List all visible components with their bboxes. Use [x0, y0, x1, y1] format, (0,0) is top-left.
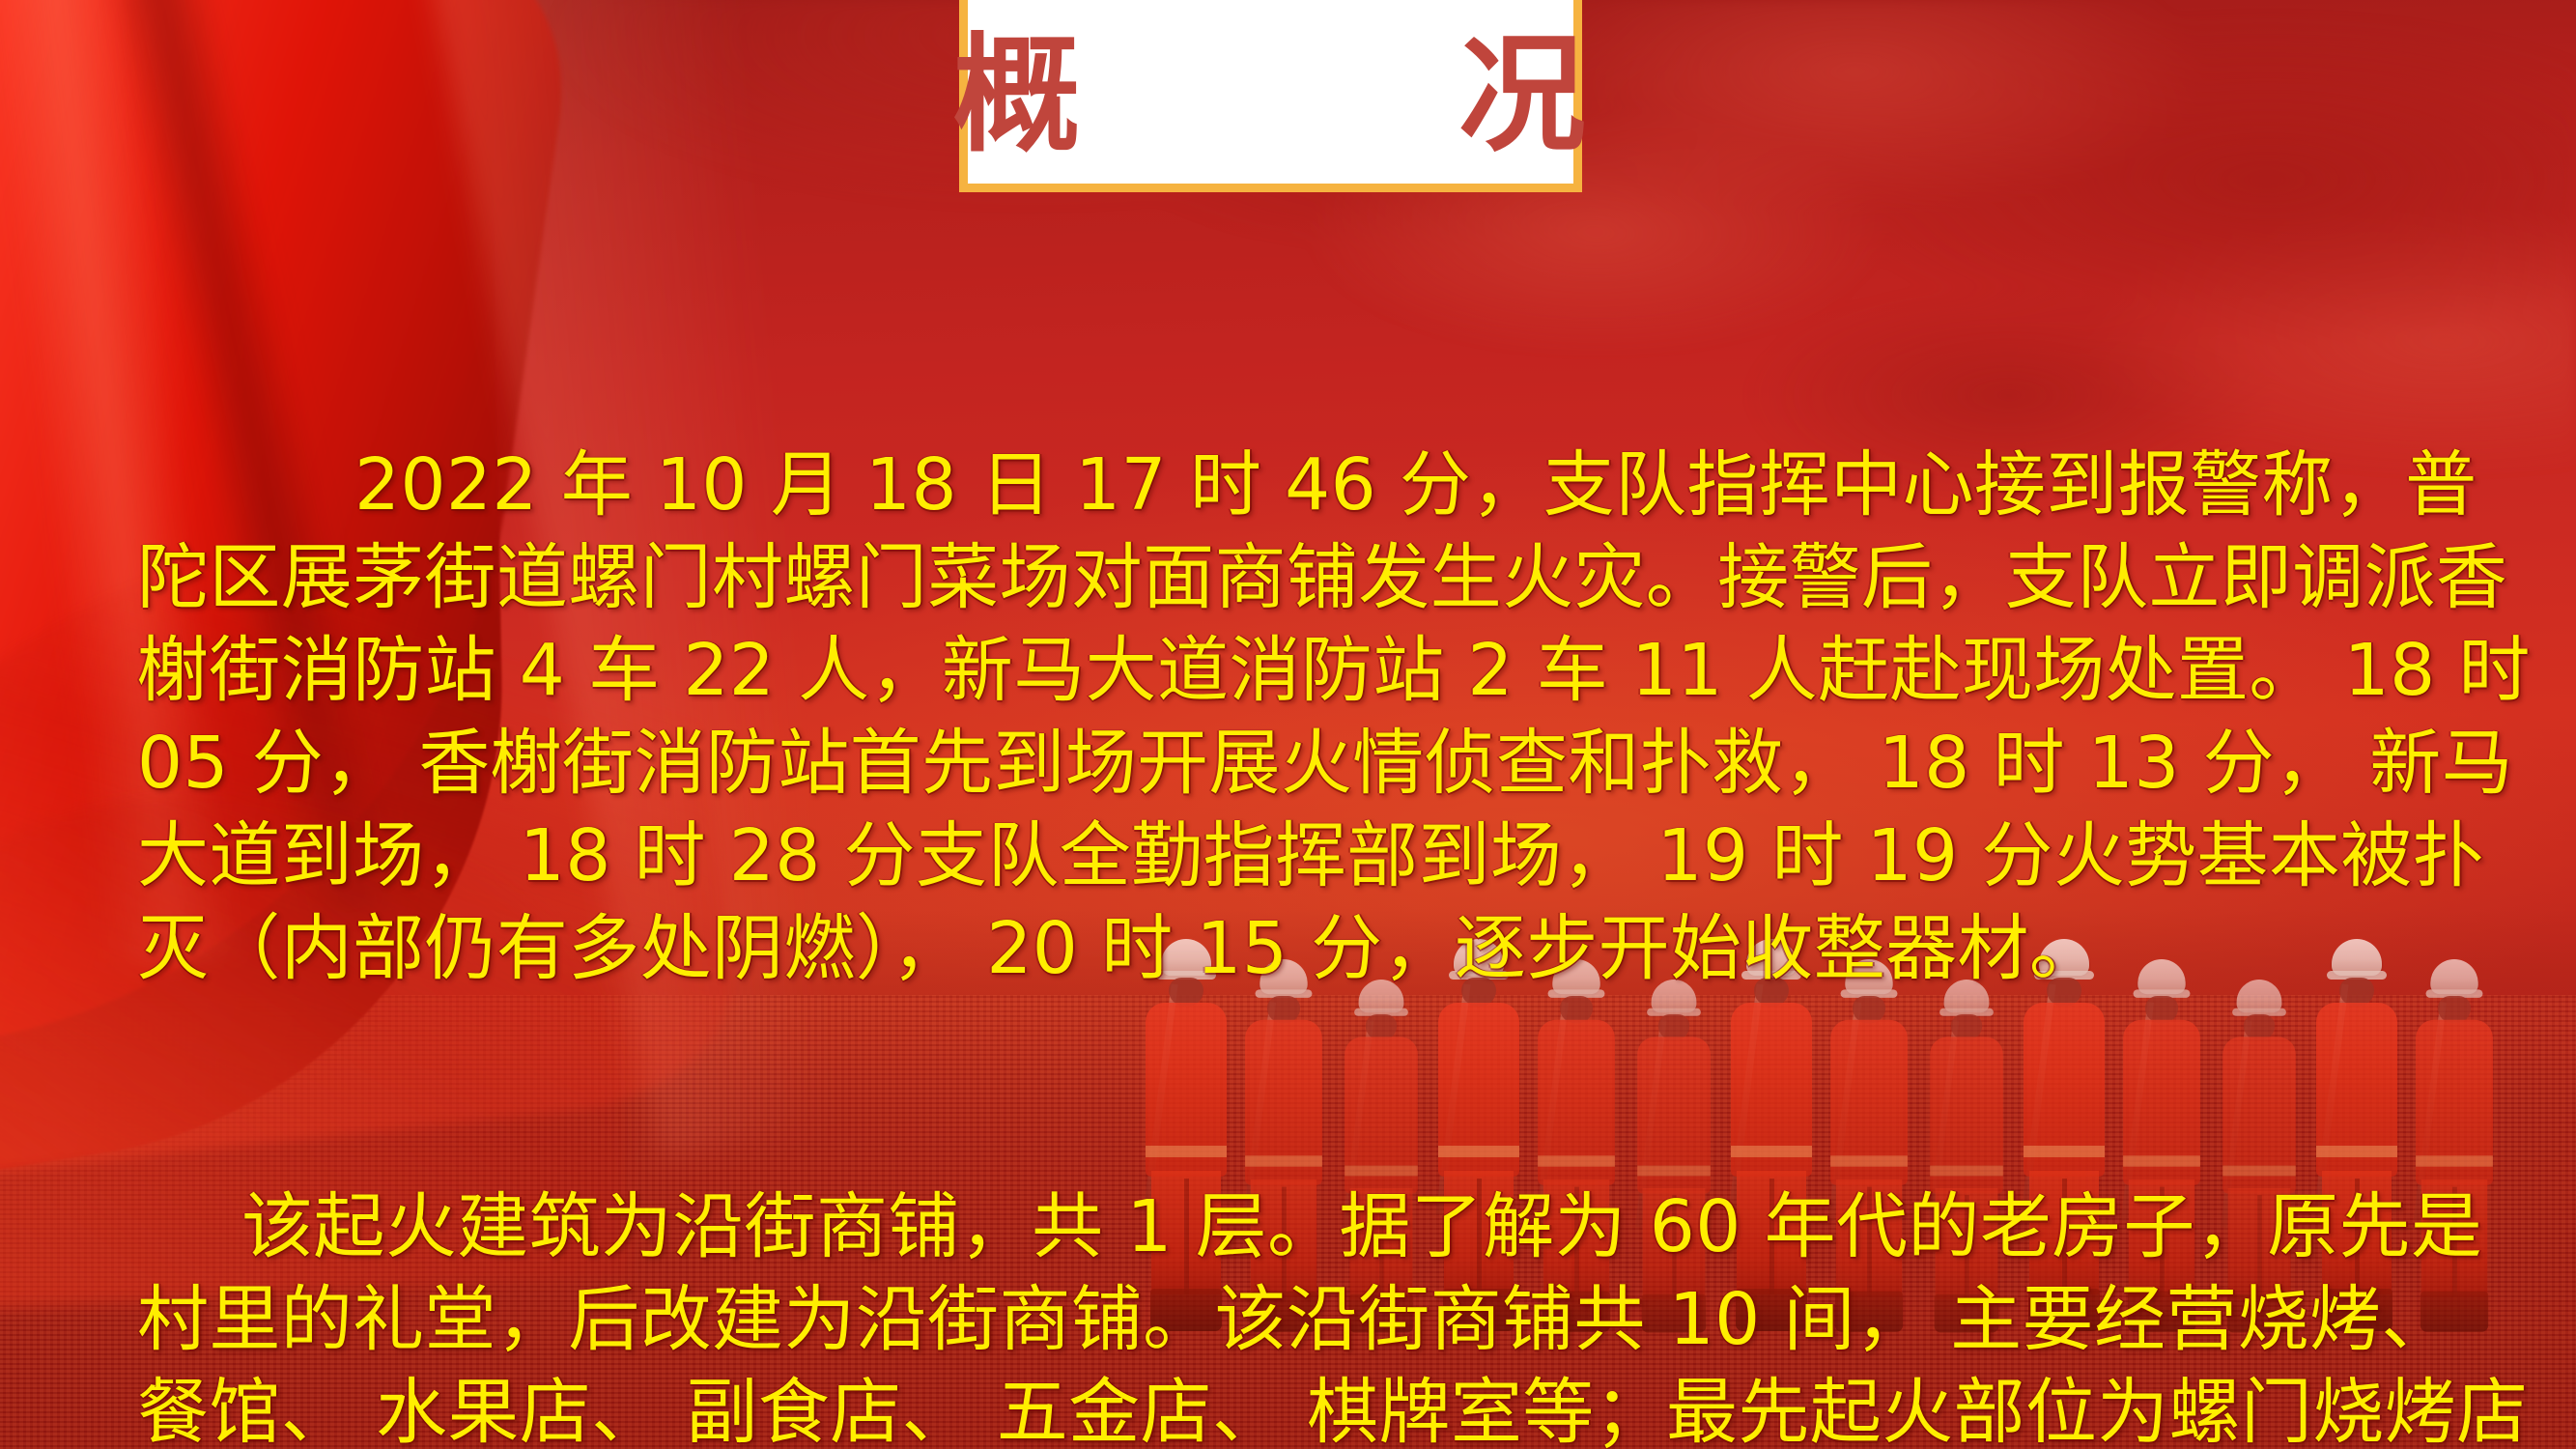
page-title: 概 况: [952, 32, 1588, 159]
building-description-paragraph: 该起火建筑为沿街商铺，共 1 层。据了解为 60 年代的老房子，原先是村里的礼堂…: [137, 1180, 2533, 1449]
slide-body-text: 2022 年 10 月 18 日 17 时 46 分，支队指挥中心接到报警称，普…: [137, 253, 2533, 1449]
presentation-slide: 概 况 2022 年 10 月 18 日 17 时 46 分，支队指挥中心接到报…: [0, 0, 2576, 1449]
slide-title-card: 概 况: [959, 0, 1582, 192]
incident-summary-paragraph: 2022 年 10 月 18 日 17 时 46 分，支队指挥中心接到报警称，普…: [137, 439, 2533, 995]
